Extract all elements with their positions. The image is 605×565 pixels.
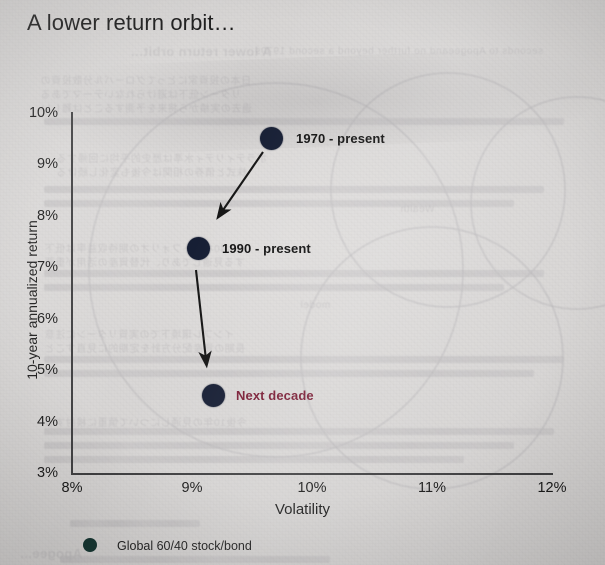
photographed-slide-page: A lower return orbit… seconds to Apogeea… bbox=[0, 0, 605, 565]
legend-marker-global-6040 bbox=[83, 538, 97, 552]
data-point-label-1970-present: 1970 - present bbox=[296, 131, 385, 146]
arrow-1990-to-next-decade bbox=[196, 270, 206, 360]
arrow-1970-to-1990 bbox=[221, 152, 263, 213]
slide-content: A lower return orbit… 10% 9% 8% 7% 6% 5%… bbox=[0, 0, 605, 565]
data-point-label-next-decade: Next decade bbox=[236, 388, 314, 403]
data-point-1970-present[interactable] bbox=[260, 127, 283, 150]
data-point-next-decade[interactable] bbox=[202, 384, 225, 407]
annotation-arrows bbox=[0, 0, 605, 565]
legend-label-global-6040: Global 60/40 stock/bond bbox=[117, 539, 252, 553]
data-point-label-1990-present: 1990 - present bbox=[222, 241, 311, 256]
data-point-1990-present[interactable] bbox=[187, 237, 210, 260]
